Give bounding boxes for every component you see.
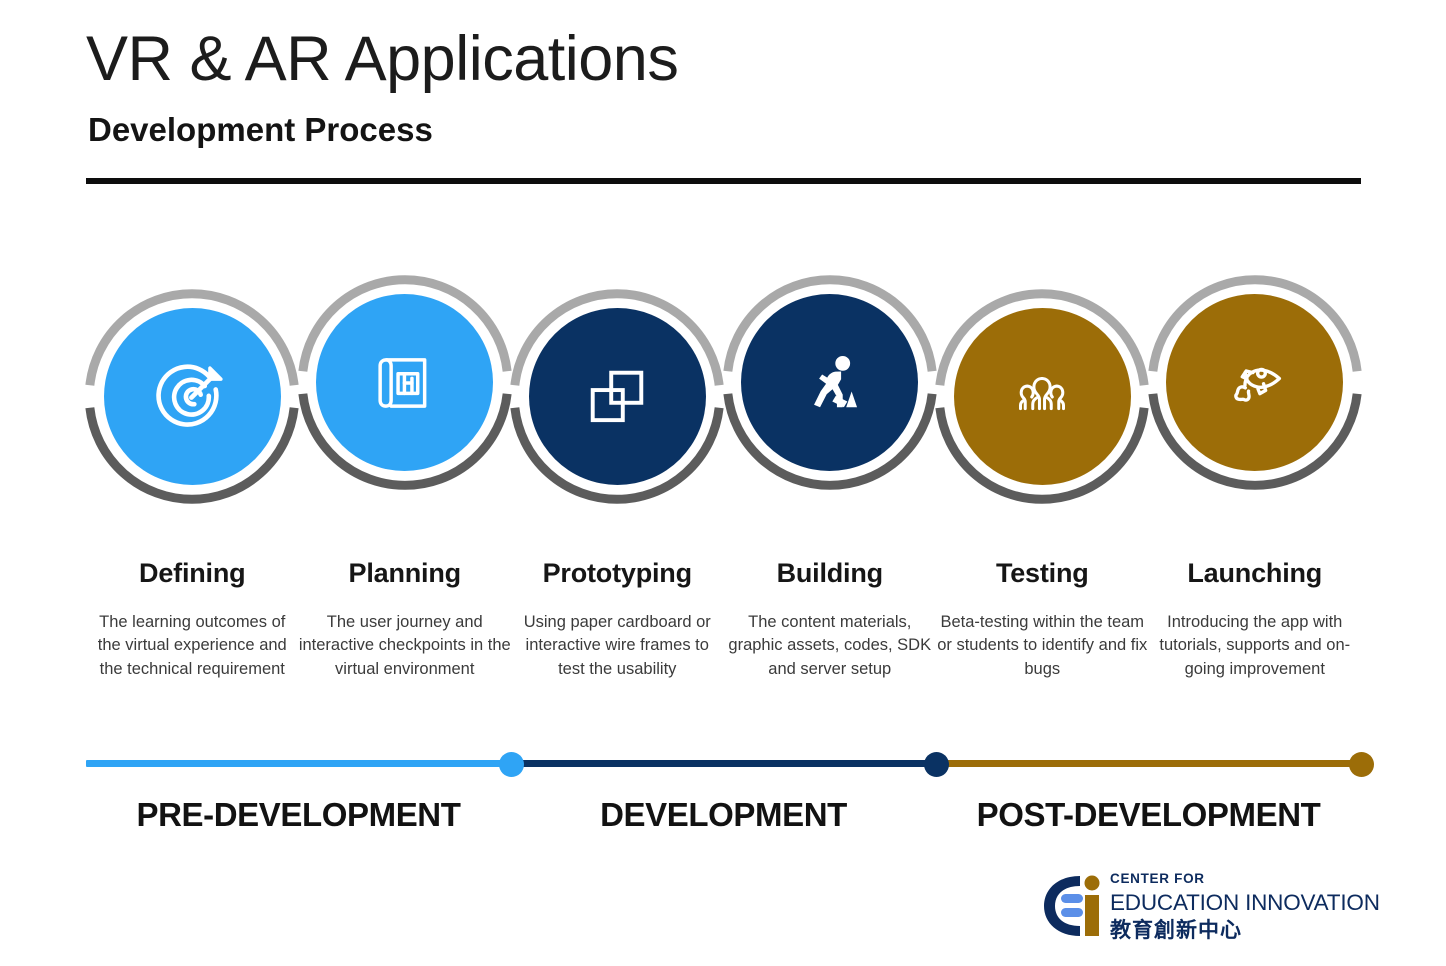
page-subtitle: Development Process	[88, 113, 1361, 146]
phase-label-0: PRE-DEVELOPMENT	[86, 795, 511, 835]
stage-name: Launching	[1149, 560, 1362, 587]
stage-icon-disc[interactable]	[104, 308, 281, 485]
organization-logo: CENTER FOR EDUCATION INNOVATION 教育創新中心	[1038, 868, 1348, 950]
header-divider	[86, 178, 1361, 184]
stage-text-testing: TestingBeta-testing within the team or s…	[936, 560, 1149, 681]
stage-name: Prototyping	[511, 560, 724, 587]
pre-development-end-dot[interactable]	[499, 752, 524, 777]
stage-icon-disc[interactable]	[529, 308, 706, 485]
development-end-dot[interactable]	[924, 752, 949, 777]
stage-text-launching: LaunchingIntroducing the app with tutori…	[1149, 560, 1362, 681]
stage-icon-disc[interactable]	[316, 294, 493, 471]
phase-timeline	[86, 742, 1361, 788]
pre-development-segment	[86, 760, 511, 767]
process-stage-launching[interactable]	[1149, 272, 1362, 522]
stage-name: Building	[724, 560, 937, 587]
stage-text-building: BuildingThe content materials, graphic a…	[724, 560, 937, 681]
phase-label-row: PRE-DEVELOPMENTDEVELOPMENTPOST-DEVELOPME…	[86, 795, 1361, 849]
stage-text-prototyping: PrototypingUsing paper cardboard or inte…	[511, 560, 724, 681]
construction-worker-icon	[793, 346, 867, 420]
logo-wordmark: CENTER FOR EDUCATION INNOVATION 教育創新中心	[1110, 872, 1380, 941]
stage-text-planning: PlanningThe user journey and interactive…	[299, 560, 512, 681]
overlapping-squares-icon	[580, 360, 654, 434]
stage-description: Using paper cardboard or interactive wir…	[511, 611, 724, 681]
stage-icon-disc[interactable]	[954, 308, 1131, 485]
stage-description: Beta-testing within the team or students…	[936, 611, 1149, 681]
post-development-end-dot[interactable]	[1349, 752, 1374, 777]
process-stage-building[interactable]	[724, 272, 937, 522]
development-segment	[511, 760, 936, 767]
phase-label-2: POST-DEVELOPMENT	[936, 795, 1361, 835]
stage-icon-disc[interactable]	[741, 294, 918, 471]
process-stage-planning[interactable]	[299, 272, 512, 522]
process-stage-band	[86, 272, 1361, 522]
stage-name: Testing	[936, 560, 1149, 587]
stage-icon-disc[interactable]	[1166, 294, 1343, 471]
cei-logo-mark-icon	[1038, 872, 1100, 945]
stage-description: The learning outcomes of the virtual exp…	[86, 611, 299, 681]
post-development-segment	[936, 760, 1361, 767]
rocket-icon	[1218, 346, 1292, 420]
process-stage-prototyping[interactable]	[511, 272, 724, 522]
stage-name: Planning	[299, 560, 512, 587]
phase-label-1: DEVELOPMENT	[511, 795, 936, 835]
stage-name: Defining	[86, 560, 299, 587]
process-stage-labels: DefiningThe learning outcomes of the vir…	[86, 560, 1361, 720]
stage-description: Introducing the app with tutorials, supp…	[1149, 611, 1362, 681]
page-title: VR & AR Applications	[86, 28, 1361, 91]
logo-line-chinese: 教育創新中心	[1110, 920, 1380, 941]
blueprint-icon	[368, 346, 442, 420]
logo-line-education-innovation: EDUCATION INNOVATION	[1110, 892, 1380, 915]
stage-description: The content materials, graphic assets, c…	[724, 611, 937, 681]
stage-description: The user journey and interactive checkpo…	[299, 611, 512, 681]
people-group-icon	[1005, 360, 1079, 434]
logo-line-center-for: CENTER FOR	[1110, 872, 1380, 886]
page-header: VR & AR Applications Development Process	[86, 28, 1361, 184]
process-stage-defining[interactable]	[86, 272, 299, 522]
target-arrow-icon	[155, 360, 229, 434]
stage-text-defining: DefiningThe learning outcomes of the vir…	[86, 560, 299, 681]
process-stage-testing[interactable]	[936, 272, 1149, 522]
